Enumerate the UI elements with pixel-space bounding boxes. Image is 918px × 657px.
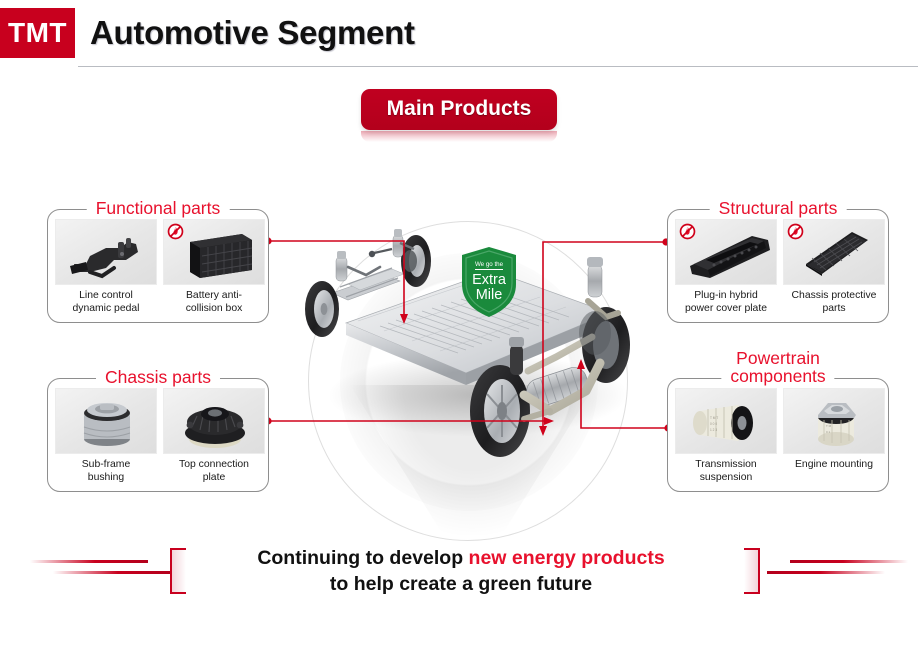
tagline-part-1: Continuing to develop xyxy=(257,547,468,569)
page-title: Automotive Segment xyxy=(90,14,415,52)
svg-text:T M T: T M T xyxy=(710,416,718,420)
caption-line-2: collision box xyxy=(163,303,265,316)
extra-mile-badge: We go the Extra Mile xyxy=(460,246,518,318)
caption-line-1: Transmission xyxy=(675,459,777,472)
product-card[interactable]: Battery anti- collision box xyxy=(163,219,265,315)
footer-line-right-2 xyxy=(767,571,885,574)
product-image-engine-mounting: T M0 1 xyxy=(783,388,885,454)
caption-line-1: Sub-frame xyxy=(55,459,157,472)
main-products-banner-wrap: Main Products xyxy=(0,89,918,130)
product-image-battery-anti-collision-box xyxy=(163,219,265,285)
group-cells: T M T0 0 01 2 3 Transmission suspension xyxy=(668,379,888,491)
product-card[interactable]: Line control dynamic pedal xyxy=(55,219,157,315)
slide-root: TMT Automotive Segment Main Products xyxy=(0,0,918,657)
group-cells: Line control dynamic pedal xyxy=(48,210,268,322)
caption-line-2: suspension xyxy=(675,472,777,485)
caption-line-2: dynamic pedal xyxy=(55,303,157,316)
product-card[interactable]: Plug-in hybrid power cover plate xyxy=(675,219,777,315)
flame-retardant-icon xyxy=(787,223,804,240)
flame-retardant-icon xyxy=(679,223,696,240)
group-chassis-parts: Chassis parts xyxy=(47,378,269,492)
group-functional-parts: Functional parts Line control dynamic pe… xyxy=(47,209,269,323)
footer-line-right-1 xyxy=(790,560,908,563)
svg-text:0 0 0: 0 0 0 xyxy=(710,422,717,426)
caption-line-1: Top connection xyxy=(163,459,265,472)
center-stage: We go the Extra Mile xyxy=(288,205,658,545)
product-caption: Line control dynamic pedal xyxy=(55,290,157,315)
group-title-functional: Functional parts xyxy=(87,198,230,219)
product-card[interactable]: T M T0 0 01 2 3 Transmission suspension xyxy=(675,388,777,484)
product-image-top-connection-plate xyxy=(163,388,265,454)
footer-tagline: Continuing to develop new energy product… xyxy=(196,545,726,597)
caption-line-1: Chassis protective xyxy=(783,290,885,303)
caption-line-2: power cover plate xyxy=(675,303,777,316)
group-title-line-1: Powertrain xyxy=(730,349,825,367)
badge-line-top: We go the xyxy=(475,262,503,270)
caption-line-1: Battery anti- xyxy=(163,290,265,303)
footer-line-left-1 xyxy=(30,560,148,563)
product-card[interactable]: Chassis protective parts xyxy=(783,219,885,315)
group-title-chassis: Chassis parts xyxy=(96,367,220,388)
logo-text: TMT xyxy=(8,17,67,49)
product-caption: Engine mounting xyxy=(783,459,885,472)
caption-line-2: parts xyxy=(783,303,885,316)
caption-line-2: plate xyxy=(163,472,265,485)
product-caption: Transmission suspension xyxy=(675,459,777,484)
banner-reflection xyxy=(361,131,557,142)
product-image-plug-in-hybrid-power-cover-plate xyxy=(675,219,777,285)
product-image-sub-frame-bushing xyxy=(55,388,157,454)
badge-text: We go the Extra Mile xyxy=(460,246,518,318)
tmt-logo: TMT xyxy=(0,8,75,58)
product-caption: Plug-in hybrid power cover plate xyxy=(675,290,777,315)
group-title-line-2: components xyxy=(730,367,825,385)
bracket-left xyxy=(170,548,186,594)
product-image-line-control-dynamic-pedal xyxy=(55,219,157,285)
product-card[interactable]: Sub-frame bushing xyxy=(55,388,157,484)
tagline-row-1: Continuing to develop new energy product… xyxy=(196,545,726,571)
product-card[interactable]: T M0 1 Engine mounting xyxy=(783,388,885,484)
group-cells: Sub-frame bushing xyxy=(48,379,268,491)
group-powertrain-components: Powertrain components xyxy=(667,378,889,492)
caption-line-1: Engine mounting xyxy=(783,459,885,472)
caption-line-2: bushing xyxy=(55,472,157,485)
tagline-row-2: to help create a green future xyxy=(196,571,726,597)
bracket-right xyxy=(744,548,760,594)
footer: Continuing to develop new energy product… xyxy=(0,540,918,620)
product-caption: Chassis protective parts xyxy=(783,290,885,315)
group-cells: Plug-in hybrid power cover plate xyxy=(668,210,888,322)
group-title-powertrain: Powertrain components xyxy=(721,349,834,385)
main-products-banner: Main Products xyxy=(361,89,558,130)
header-divider xyxy=(78,66,918,67)
flame-retardant-icon xyxy=(167,223,184,240)
footer-line-left-2 xyxy=(53,571,171,574)
badge-line-1: Extra xyxy=(472,273,506,288)
product-caption: Battery anti- collision box xyxy=(163,290,265,315)
badge-line-2: Mile xyxy=(476,288,503,303)
tagline-highlight: new energy products xyxy=(469,547,665,569)
group-structural-parts: Structural parts xyxy=(667,209,889,323)
svg-text:T M: T M xyxy=(826,424,832,428)
caption-line-1: Line control xyxy=(55,290,157,303)
product-caption: Sub-frame bushing xyxy=(55,459,157,484)
svg-text:1 2 3: 1 2 3 xyxy=(710,428,717,432)
product-image-transmission-suspension: T M T0 0 01 2 3 xyxy=(675,388,777,454)
product-image-chassis-protective-parts xyxy=(783,219,885,285)
group-title-structural: Structural parts xyxy=(710,198,847,219)
product-card[interactable]: Top connection plate xyxy=(163,388,265,484)
product-caption: Top connection plate xyxy=(163,459,265,484)
svg-text:0 1: 0 1 xyxy=(826,430,831,434)
caption-line-1: Plug-in hybrid xyxy=(675,290,777,303)
